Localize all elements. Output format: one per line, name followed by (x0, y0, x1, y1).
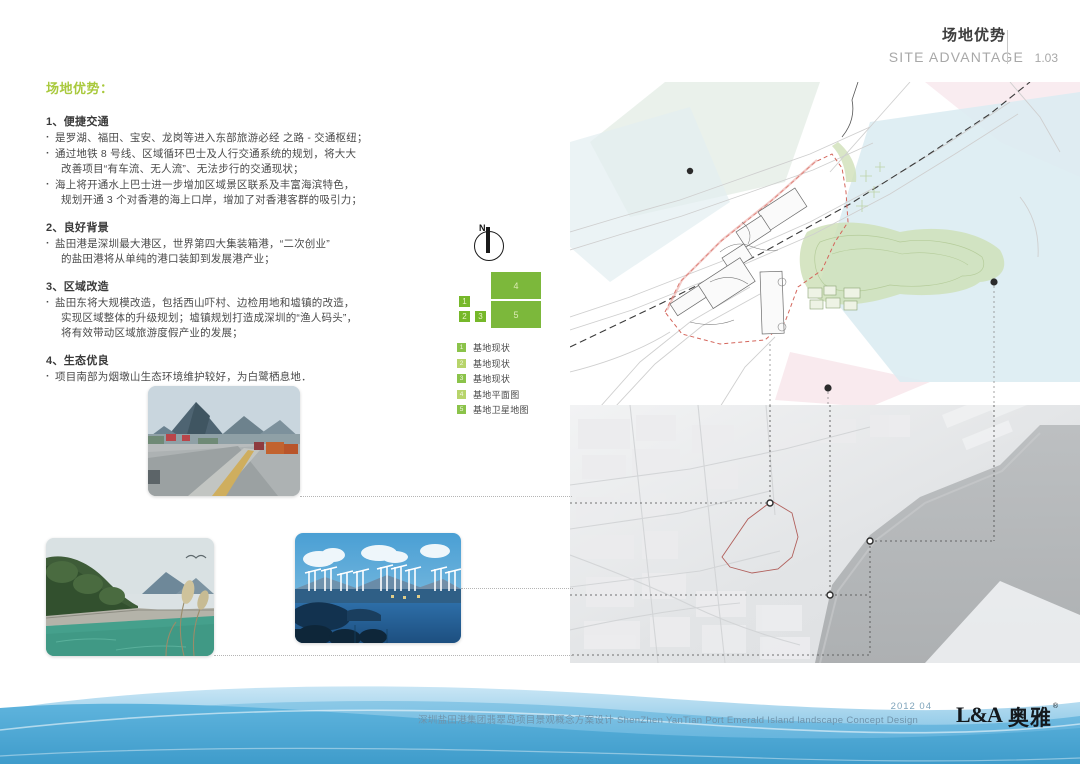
legend-swatch: 4 (456, 389, 467, 400)
legend-swatch: 2 (456, 358, 467, 369)
key-box-2: 2 (458, 310, 471, 323)
legend-row: 2 基地现状 (456, 357, 542, 370)
site-plan-figure (570, 82, 1080, 407)
footer-project-text: 深圳盐田港集团翡翠岛项目景观概念方案设计 ShenZhen YanTian Po… (418, 712, 918, 726)
content-block: 1、便捷交通 是罗湖、福田、宝安、龙岗等进入东部旅游必经 之路 - 交通枢纽； … (46, 113, 396, 208)
photo-site-road (148, 386, 300, 496)
content-block: 4、生态优良 项目南部为烟墩山生态环境维护较好，为白鹭栖息地． (46, 352, 396, 385)
section-title: 场地优势： (46, 78, 396, 97)
legend-swatch: 5 (456, 404, 467, 415)
block-heading: 4、生态优良 (46, 352, 396, 368)
legend-label: 基地现状 (473, 341, 510, 354)
legend-label: 基地现状 (473, 357, 510, 370)
legend-row: 1 基地现状 (456, 341, 542, 354)
legend-swatch: 3 (456, 373, 467, 384)
bullet-line-cont: 规划开通 3 个对香港的海上口岸，增加了对香港客群的吸引力； (55, 193, 396, 208)
block-heading: 3、区域改造 (46, 278, 396, 294)
bullet-line: 通过地铁 8 号线、区域循环巴士及人行交通系统的规划，将大大 (55, 148, 356, 160)
bullet-item: 项目南部为烟墩山生态环境维护较好，为白鹭栖息地． (46, 370, 396, 385)
legend-row: 4 基地平面图 (456, 388, 542, 401)
key-box-1: 1 (458, 295, 471, 308)
connector-line-road (300, 496, 572, 497)
logo-latin: L&A (956, 702, 1002, 728)
page-title-en: SITE ADVANTAGE (889, 49, 1024, 65)
bullet-line: 是罗湖、福田、宝安、龙岗等进入东部旅游必经 之路 - 交通枢纽； (55, 132, 368, 144)
legend-label: 基地卫星地图 (473, 403, 529, 416)
footer-date: 2012 04 (891, 701, 932, 712)
connector-line-port (461, 588, 573, 589)
key-layout-map: 1 2 3 4 5 (456, 271, 542, 329)
bullet-line-cont: 的盐田港将从单纯的港口装卸到发展港产业； (55, 252, 396, 267)
company-logo: L&A 奥雅 ® (956, 702, 1058, 732)
page-number: 1.03 (1024, 51, 1058, 65)
content-block: 2、良好背景 盐田港是深圳最大港区，世界第四大集装箱港，“二次创业” 的盐田港将… (46, 219, 396, 267)
compass-north-icon: N (474, 225, 508, 259)
satellite-map-figure (570, 405, 1080, 663)
photo-site-waterway (46, 538, 214, 656)
header-divider (1007, 30, 1008, 64)
legend-row: 5 基地卫星地图 (456, 403, 542, 416)
compass-label: N (479, 223, 486, 233)
photo-container-port (295, 533, 461, 643)
legend-swatch: 1 (456, 342, 467, 353)
bullet-line-cont: 将有效带动区域旅游度假产业的发展； (55, 326, 396, 341)
key-box-4: 4 (490, 271, 542, 300)
bullet-item: 海上将开通水上巴士进一步增加区域景区联系及丰富海滨特色， 规划开通 3 个对香港… (46, 178, 396, 208)
block-heading: 2、良好背景 (46, 219, 396, 235)
logo-chinese: 奥雅 (1008, 702, 1052, 732)
slide-page: 场地优势 SITE ADVANTAGE 1.03 场地优势： 1、便捷交通 是罗… (0, 0, 1080, 764)
page-header: 场地优势 SITE ADVANTAGE 1.03 (889, 26, 1058, 65)
legend-label: 基地平面图 (473, 388, 520, 401)
bullet-line: 海上将开通水上巴士进一步增加区域景区联系及丰富海滨特色， (55, 179, 355, 191)
figure-legend: 1 基地现状 2 基地现状 3 基地现状 4 基地平面图 5 基地卫星地图 (456, 341, 542, 416)
bullet-item: 通过地铁 8 号线、区域循环巴士及人行交通系统的规划，将大大 改善项目“有车流、… (46, 147, 396, 177)
key-box-3: 3 (474, 310, 487, 323)
compass-needle (486, 227, 490, 253)
logo-registered-mark: ® (1053, 703, 1058, 710)
block-heading: 1、便捷交通 (46, 113, 396, 129)
legend-label: 基地现状 (473, 372, 510, 385)
figure-key-block: N 1 2 3 4 5 1 基地现状 2 基地现状 3 基地现状 4 (456, 225, 542, 419)
bullet-item: 是罗湖、福田、宝安、龙岗等进入东部旅游必经 之路 - 交通枢纽； (46, 131, 396, 146)
text-column: 场地优势： 1、便捷交通 是罗湖、福田、宝安、龙岗等进入东部旅游必经 之路 - … (46, 78, 396, 396)
page-footer: 深圳盐田港集团翡翠岛项目景观概念方案设计 ShenZhen YanTian Po… (0, 664, 1080, 764)
key-box-5: 5 (490, 300, 542, 329)
connector-line-water (214, 655, 574, 656)
bullet-item: 盐田东将大规模改造，包括西山吓村、边检用地和墟镇的改造， 实现区域整体的升级规划… (46, 296, 396, 341)
legend-row: 3 基地现状 (456, 372, 542, 385)
bullet-line: 盐田港是深圳最大港区，世界第四大集装箱港，“二次创业” (55, 238, 330, 250)
content-block: 3、区域改造 盐田东将大规模改造，包括西山吓村、边检用地和墟镇的改造， 实现区域… (46, 278, 396, 341)
page-title-zh: 场地优势 (889, 26, 1058, 46)
bullet-item: 盐田港是深圳最大港区，世界第四大集装箱港，“二次创业” 的盐田港将从单纯的港口装… (46, 237, 396, 267)
bullet-line-cont: 改善项目“有车流、无人流”、无法步行的交通现状； (55, 162, 396, 177)
bullet-line: 项目南部为烟墩山生态环境维护较好，为白鹭栖息地． (55, 371, 312, 383)
bullet-line-cont: 实现区域整体的升级规划；墟镇规划打造成深圳的“渔人码头”， (55, 311, 396, 326)
bullet-line: 盐田东将大规模改造，包括西山吓村、边检用地和墟镇的改造， (55, 297, 355, 309)
